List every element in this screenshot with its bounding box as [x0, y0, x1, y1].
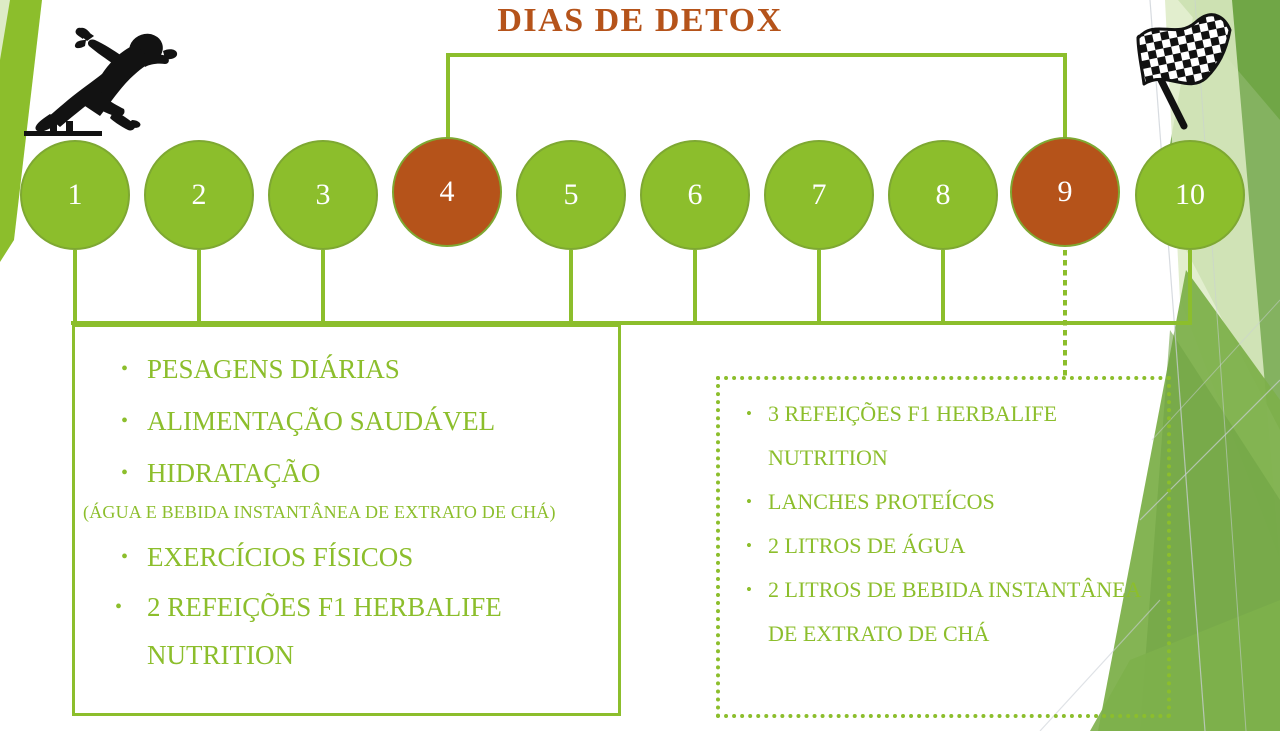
slide-canvas: DIAS DE DETOX — [0, 0, 1280, 731]
stem-day-1 — [73, 250, 77, 325]
list-item: •2 REFEIÇÕES F1 HERBALIFE NUTRITION — [75, 583, 618, 679]
list-item-label: 3 REFEIÇÕES F1 HERBALIFE NUTRITION — [768, 401, 1057, 470]
day-circle-5[interactable]: 5 — [516, 140, 626, 250]
day-circle-9[interactable]: 9 — [1010, 137, 1120, 247]
list-item: •EXERCÍCIOS FÍSICOS — [75, 531, 618, 583]
slide-title-text: DIAS DE DETOX — [497, 2, 782, 40]
list-item-label: EXERCÍCIOS FÍSICOS — [147, 542, 413, 572]
stem-day-2 — [197, 250, 201, 325]
day-circle-8[interactable]: 8 — [888, 140, 998, 250]
bullet-icon: • — [115, 583, 122, 631]
day-circle-10[interactable]: 10 — [1135, 140, 1245, 250]
stem-day-10 — [1188, 250, 1192, 325]
day-circle-label: 4 — [440, 177, 455, 207]
bullet-icon: • — [121, 447, 128, 499]
left-routine-list: •PESAGENS DIÁRIAS •ALIMENTAÇÃO SAUDÁVEL … — [75, 343, 618, 499]
stem-day-8 — [941, 250, 945, 325]
list-item-label: 2 LITROS DE BEBIDA INSTANTÂNEA DE EXTRAT… — [768, 577, 1140, 646]
list-item: •LANCHES PROTEÍCOS — [720, 480, 1167, 524]
day-circle-2[interactable]: 2 — [144, 140, 254, 250]
top-bracket-horizontal — [446, 53, 1067, 57]
dotted-stem-day-9 — [1063, 250, 1067, 378]
left-routine-panel: •PESAGENS DIÁRIAS •ALIMENTAÇÃO SAUDÁVEL … — [72, 324, 621, 716]
day-circle-label: 5 — [564, 180, 579, 210]
top-bracket-left-stem — [446, 53, 450, 150]
day-circle-7[interactable]: 7 — [764, 140, 874, 250]
day-circle-label: 6 — [688, 180, 703, 210]
bullet-icon: • — [746, 524, 752, 568]
list-item: •3 REFEIÇÕES F1 HERBALIFE NUTRITION — [720, 392, 1167, 480]
stem-day-7 — [817, 250, 821, 325]
day-circle-4[interactable]: 4 — [392, 137, 502, 247]
bullet-icon: • — [746, 392, 752, 436]
list-item-label: LANCHES PROTEÍCOS — [768, 489, 995, 514]
stem-day-6 — [693, 250, 697, 325]
list-item-label: 2 LITROS DE ÁGUA — [768, 533, 965, 558]
list-item-label: HIDRATAÇÃO — [147, 458, 320, 488]
day-circle-3[interactable]: 3 — [268, 140, 378, 250]
runner-silhouette-icon — [18, 14, 193, 144]
day-circle-label: 7 — [812, 180, 827, 210]
list-item-label: 2 REFEIÇÕES F1 HERBALIFE NUTRITION — [147, 592, 502, 670]
left-routine-list-continued: •EXERCÍCIOS FÍSICOS •2 REFEIÇÕES F1 HERB… — [75, 531, 618, 679]
day-circle-label: 1 — [68, 180, 83, 210]
day-circle-6[interactable]: 6 — [640, 140, 750, 250]
day-circle-1[interactable]: 1 — [20, 140, 130, 250]
list-item: •2 LITROS DE ÁGUA — [720, 524, 1167, 568]
bullet-icon: • — [121, 343, 128, 395]
day-circle-label: 9 — [1058, 177, 1073, 207]
right-routine-panel: •3 REFEIÇÕES F1 HERBALIFE NUTRITION •LAN… — [716, 376, 1171, 718]
checkered-flag-icon — [1122, 8, 1242, 143]
bullet-icon: • — [746, 480, 752, 524]
list-item-label: PESAGENS DIÁRIAS — [147, 354, 400, 384]
bullet-icon: • — [121, 395, 128, 447]
bullet-icon: • — [121, 531, 128, 583]
left-routine-note: (ÁGUA E BEBIDA INSTANTÂNEA DE EXTRATO DE… — [75, 499, 618, 525]
top-bracket-right-stem — [1063, 53, 1067, 150]
day-circle-label: 3 — [316, 180, 331, 210]
bullet-icon: • — [746, 568, 752, 612]
list-item: •2 LITROS DE BEBIDA INSTANTÂNEA DE EXTRA… — [720, 568, 1167, 656]
list-item: •PESAGENS DIÁRIAS — [75, 343, 618, 395]
list-item: •HIDRATAÇÃO — [75, 447, 618, 499]
day-circle-label: 2 — [192, 180, 207, 210]
stem-day-5 — [569, 250, 573, 325]
day-circle-label: 8 — [936, 180, 951, 210]
list-item: •ALIMENTAÇÃO SAUDÁVEL — [75, 395, 618, 447]
list-item-label: ALIMENTAÇÃO SAUDÁVEL — [147, 406, 495, 436]
day-circle-label: 10 — [1175, 180, 1205, 210]
stem-day-3 — [321, 250, 325, 325]
right-routine-list: •3 REFEIÇÕES F1 HERBALIFE NUTRITION •LAN… — [720, 392, 1167, 656]
